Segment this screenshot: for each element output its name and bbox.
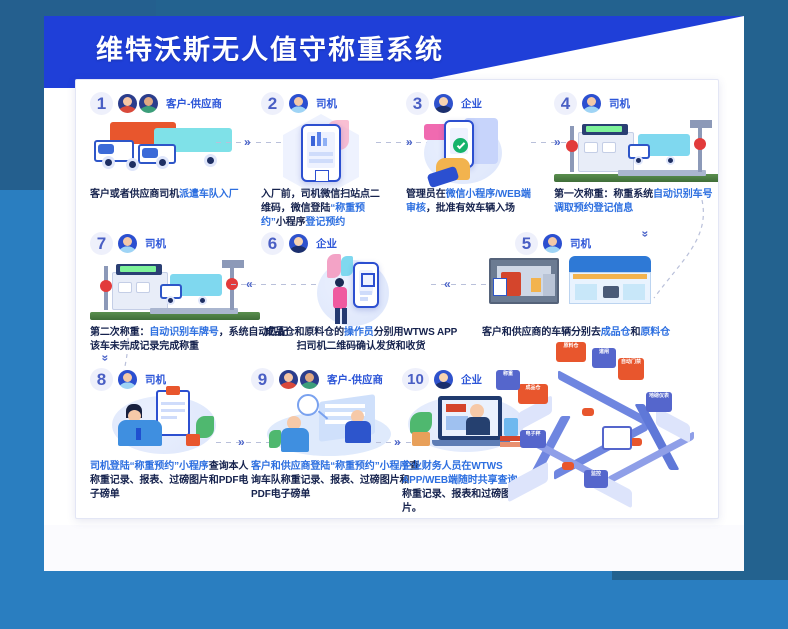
chevron-forward-icon-5: » [394, 436, 401, 448]
step-9-role-label: 客户-供应商 [327, 372, 383, 387]
iso-scale-display [602, 426, 632, 450]
iso-tag-3: 道闸 [592, 348, 616, 368]
step-7-number: 7 [90, 232, 113, 255]
step-9[interactable]: 9 客户-供应商 [251, 368, 426, 390]
driver-avatar-8 [118, 370, 137, 389]
step-2[interactable]: 2 司机 入厂前，司机微信扫 [261, 92, 391, 114]
step-5-avatars [543, 234, 564, 253]
step-9-caption: 客户和供应商登陆“称重预约”小程序查询车队称重记录、报表、过磅图片和PDF电子磅… [251, 460, 423, 502]
step-9-caption-a: 客户和供应商登陆“称重预约”小程序 [251, 461, 409, 472]
step-6-number: 6 [261, 232, 284, 255]
step-4-avatars [582, 94, 603, 113]
iso-tag-5: 地磅仪表 [646, 392, 672, 412]
step-7-avatars [118, 234, 139, 253]
customer-female-avatar [118, 94, 137, 113]
iso-tag-7: 监控 [584, 470, 608, 488]
step-8-caption-a: 司机登陆“称重预约”小程序 [90, 461, 209, 472]
supplier-male-avatar-9 [300, 370, 319, 389]
step-5-caption-d: 原料仓 [640, 327, 670, 338]
step-8-caption: 司机登陆“称重预约”小程序查询本人称重记录、报表、过磅图片和PDF电子磅单 [90, 460, 250, 502]
iso-tag-4: 称重 [496, 370, 520, 390]
driver-avatar-4 [582, 94, 601, 113]
step-6-caption: 成品仓和原料仓的操作员分别用WTWS APP扫司机二维码确认发货和收货 [261, 326, 461, 354]
step-3-caption: 管理员在微信小程序/WEB端审核，批准有效车辆入场 [406, 188, 536, 216]
iso-tag-6: 电子秤 [520, 430, 546, 448]
step-1-role-label: 客户-供应商 [166, 96, 222, 111]
step-5[interactable]: 5 司机 [451, 232, 701, 254]
customer-female-avatar-9 [279, 370, 298, 389]
step-10-number: 10 [402, 368, 429, 391]
step-10-caption-c: 称重记录、报表和过磅图片。 [402, 489, 511, 514]
iso-tag-0: 原料仓 [556, 342, 586, 362]
step-2-avatars [289, 94, 310, 113]
step-6-caption-a: 成品仓和原料仓的 [265, 327, 344, 338]
step-6-avatars [289, 234, 310, 253]
step-4[interactable]: 4 司机 [554, 92, 719, 114]
step-4-role-label: 司机 [609, 96, 630, 111]
isometric-network-icon: 原料仓 成品仓 自动门禁 道闸 称重 地磅仪表 电子秤 监控 [496, 342, 719, 512]
step-5-caption: 客户和供应商的车辆分别去成品仓和原料仓 [451, 326, 701, 340]
step-3-caption-a: 管理员在 [406, 189, 446, 200]
step-5-caption-a: 客户和供应商的车辆分别去 [482, 327, 601, 338]
step-6-role-label: 企业 [316, 236, 337, 251]
enterprise-avatar [434, 94, 453, 113]
chevron-forward-icon-4: » [238, 436, 245, 448]
step-8-number: 8 [90, 368, 113, 391]
warehouse-pair-icon [489, 258, 559, 304]
page-title: 维特沃斯无人值守称重系统 [96, 28, 444, 67]
step-7-role-label: 司机 [145, 236, 166, 251]
step-7-caption-b: 自动识别车牌号 [149, 327, 218, 338]
iso-tag-1: 成品仓 [518, 384, 548, 404]
step-9-avatars [279, 370, 321, 389]
step-8[interactable]: 8 司机 司机登陆“称重预约”小程序查 [90, 368, 250, 390]
flow-card: 1 客户-供应商 [75, 79, 719, 519]
step-5-caption-c: 和 [630, 327, 640, 338]
step-2-caption: 入厂前，司机微信扫站点二维码，微信登陆“称重预约”小程序登记预约 [261, 188, 381, 230]
step-1-avatars [118, 94, 160, 113]
chevron-forward-icon-2: » [406, 136, 413, 148]
poster-root: 维特沃斯无人值守称重系统 1 客户-供应商 [0, 0, 788, 629]
step-10-caption-a: 企业财务人员在 [402, 461, 471, 472]
step-6-caption-b: 操作员 [344, 327, 374, 338]
chevron-backward-icon-2: « [444, 278, 451, 290]
step-3-role-label: 企业 [461, 96, 482, 111]
enterprise-avatar-10 [434, 370, 453, 389]
chevron-down-icon-2: » [99, 355, 111, 362]
step-5-header: 5 司机 [515, 232, 701, 254]
step-1[interactable]: 1 客户-供应商 [90, 92, 266, 114]
step-5-number: 5 [515, 232, 538, 255]
step-6[interactable]: 6 企业 [261, 232, 476, 254]
step-2-header: 2 司机 [261, 92, 391, 114]
step-1-caption-a: 客户或者供应商司机 [90, 189, 179, 200]
weighbridge-station-icon [554, 116, 719, 182]
enterprise-avatar-6 [289, 234, 308, 253]
raw-material-warehouse-icon [569, 256, 651, 304]
step-3-caption-c: ，批准有效车辆入场 [426, 203, 515, 214]
driver-avatar [289, 94, 308, 113]
step-10-avatars [434, 370, 455, 389]
step-1-caption-b: 派遣车队入厂 [179, 189, 238, 200]
iso-tag-2: 自动门禁 [618, 358, 644, 380]
poster-bottom-strip [44, 525, 744, 571]
step-10-role-label: 企业 [461, 372, 482, 387]
supplier-male-avatar [139, 94, 158, 113]
step-2-role-label: 司机 [316, 96, 337, 111]
step-4-number: 4 [554, 92, 577, 115]
step-3-header: 3 企业 [406, 92, 541, 114]
step-3-avatars [434, 94, 455, 113]
weighbridge-station-icon-2 [90, 258, 260, 320]
step-5-caption-b: 成品仓 [601, 327, 631, 338]
step-2-caption-c: 小程序 [276, 217, 306, 228]
driver-avatar-5 [543, 234, 562, 253]
step-5-role-label: 司机 [570, 236, 591, 251]
step-2-caption-d: 登记预约 [306, 217, 346, 228]
chevron-backward-icon-1: « [246, 278, 253, 290]
step-3-number: 3 [406, 92, 429, 115]
step-1-caption: 客户或者供应商司机派遣车队入厂 [90, 188, 270, 202]
step-7[interactable]: 7 司机 [90, 232, 280, 254]
step-4-header: 4 司机 [554, 92, 719, 114]
step-2-number: 2 [261, 92, 284, 115]
step-9-header: 9 客户-供应商 [251, 368, 426, 390]
truck-fleet-icon [92, 118, 242, 180]
driver-avatar-7 [118, 234, 137, 253]
step-1-number: 1 [90, 92, 113, 115]
step-3[interactable]: 3 企业 管理员在微信小程序/WEB端审核，批准有效车辆入场 [406, 92, 541, 114]
step-7-caption-a: 第二次称重： [90, 327, 149, 338]
step-1-header: 1 客户-供应商 [90, 92, 266, 114]
chevron-forward-icon-1: » [244, 136, 251, 148]
step-6-header: 6 企业 [261, 232, 476, 254]
step-8-role-label: 司机 [145, 372, 166, 387]
step-9-number: 9 [251, 368, 274, 391]
step-7-header: 7 司机 [90, 232, 280, 254]
step-8-avatars [118, 370, 139, 389]
